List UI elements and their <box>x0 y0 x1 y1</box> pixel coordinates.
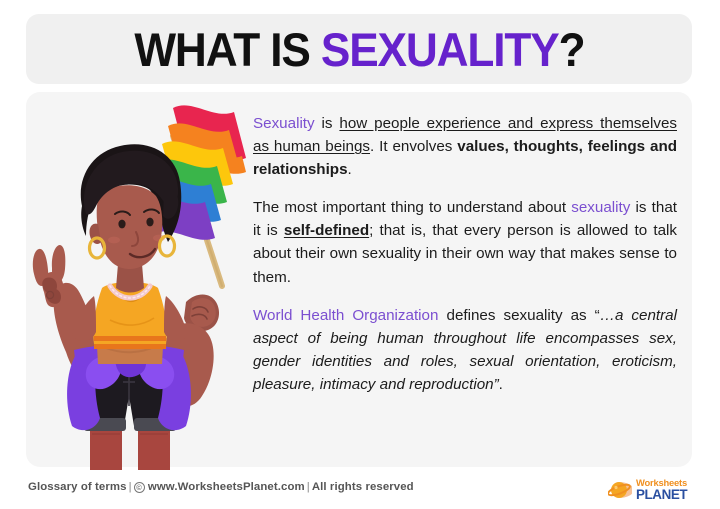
brand-bottom-word: PLANET <box>636 488 687 501</box>
footer: Glossary of terms|© www.WorksheetsPlanet… <box>0 470 720 509</box>
head <box>81 144 182 269</box>
p1-run-2: is <box>315 115 340 132</box>
footer-credits: Glossary of terms|© www.WorksheetsPlanet… <box>28 481 414 493</box>
p2-self-defined-emphasis: self-defined <box>284 222 369 239</box>
p3-run-4: . <box>499 376 503 393</box>
page-title-keyword: SEXUALITY <box>320 23 558 76</box>
body-text-column: Sexuality is how people experience and e… <box>253 112 677 396</box>
keyword-sexuality-2: sexuality <box>571 199 630 216</box>
page-title-part-1: WHAT IS <box>134 23 320 76</box>
page-title-question-mark: ? <box>558 23 584 76</box>
brand-top-word: Worksheets <box>636 478 687 487</box>
p1-run-6: . <box>348 161 352 178</box>
website-url[interactable]: www.WorksheetsPlanet.com <box>148 481 305 493</box>
keyword-world-health-organization: World Health Organization <box>253 307 438 324</box>
p2-run-1: The most important thing to understand a… <box>253 199 571 216</box>
illustration-woman-with-pride-flag <box>10 96 250 486</box>
copyright-icon: © <box>134 482 145 493</box>
glossary-label: Glossary of terms <box>28 481 127 493</box>
keyword-sexuality: Sexuality <box>253 115 315 132</box>
brand-logo[interactable]: Worksheets PLANET <box>608 476 704 503</box>
footer-separator-1: | <box>127 481 134 493</box>
paragraph-1: Sexuality is how people experience and e… <box>253 112 677 181</box>
footer-separator-2: | <box>305 481 312 493</box>
page-title: WHAT IS SEXUALITY? <box>134 26 584 73</box>
p3-run-2: defines sexuality as “ <box>438 307 599 324</box>
planet-icon <box>608 478 632 502</box>
header-panel: WHAT IS SEXUALITY? <box>26 14 692 84</box>
paragraph-3: World Health Organization defines sexual… <box>253 304 677 396</box>
paragraph-2: The most important thing to understand a… <box>253 196 677 288</box>
brand-wordmark: Worksheets PLANET <box>636 478 687 502</box>
p1-run-4: . It envolves <box>370 138 457 155</box>
rights-reserved-label: All rights reserved <box>312 481 414 493</box>
